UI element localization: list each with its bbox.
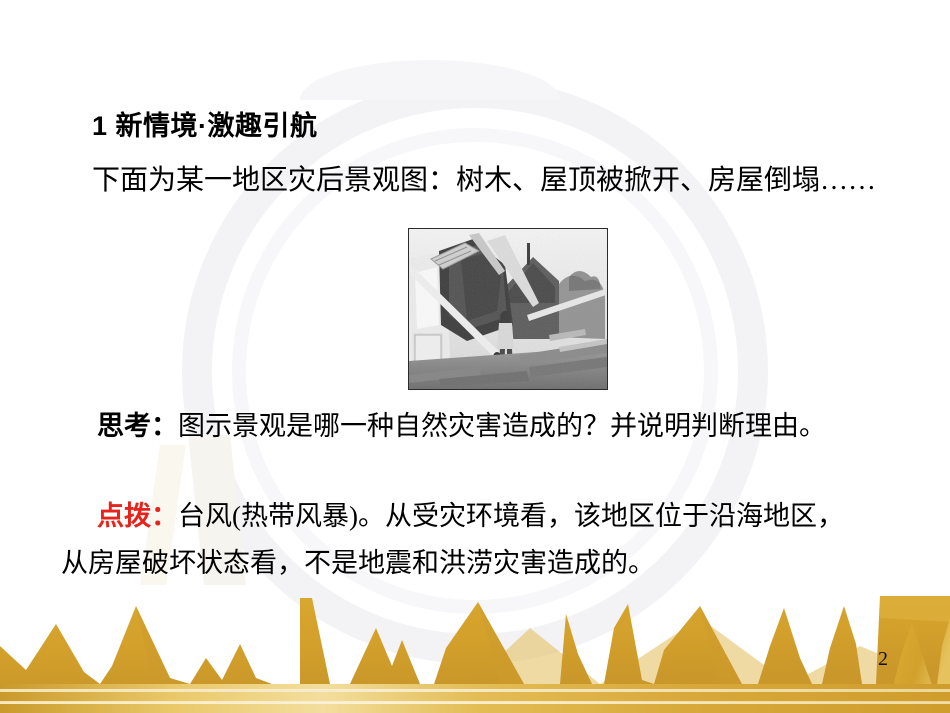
gold-mountain-decoration	[0, 588, 950, 713]
hint-label: 点拨：	[97, 501, 178, 531]
watermark-arc-top	[300, 60, 560, 100]
think-label: 思考：	[97, 411, 178, 441]
disaster-photo-graphic	[409, 229, 607, 389]
disaster-photo	[408, 228, 608, 390]
think-body: 图示景观是哪一种自然灾害造成的？并说明判断理由。	[178, 411, 826, 441]
slide-canvas: 1 新情境·激趣引航 下面为某一地区灾后景观图：树木、屋顶被掀开、房屋倒塌……	[0, 0, 950, 713]
gold-mountain-icon	[0, 588, 950, 713]
hint-paragraph-line1: 点拨：台风(热带风暴)。从受灾环境看，该地区位于沿海地区，	[97, 494, 844, 533]
intro-paragraph: 下面为某一地区灾后景观图：树木、屋顶被掀开、房屋倒塌……	[92, 158, 876, 198]
page-number: 2	[878, 648, 888, 671]
hint-body-line1: 台风(热带风暴)。从受灾环境看，该地区位于沿海地区，	[178, 501, 844, 531]
hint-paragraph-line2: 从房屋破坏状态看，不是地震和洪涝灾害造成的。	[61, 541, 655, 580]
page-title: 1 新情境·激趣引航	[92, 104, 318, 143]
think-paragraph: 思考：图示景观是哪一种自然灾害造成的？并说明判断理由。	[97, 404, 826, 443]
